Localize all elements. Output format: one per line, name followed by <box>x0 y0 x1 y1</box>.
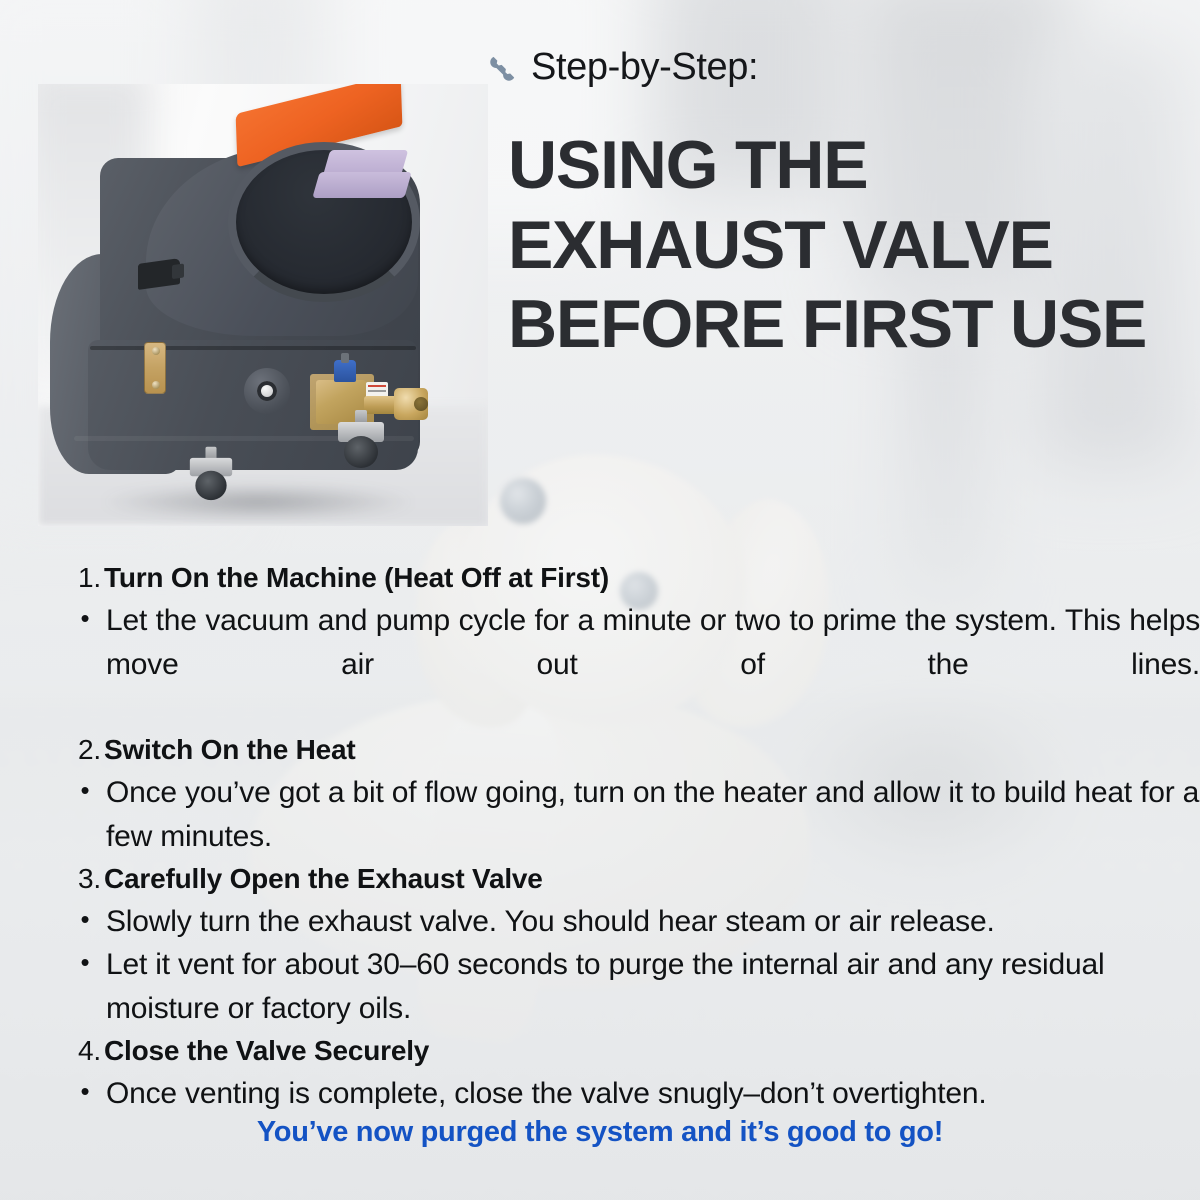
closing-statement: You’ve now purged the system and it’s go… <box>0 1116 1200 1149</box>
step-number: 3. <box>64 859 104 900</box>
page-title: USING THE EXHAUST VALVE BEFORE FIRST USE <box>508 126 1188 365</box>
step-number: 2. <box>64 730 104 771</box>
bullet-marker-icon: • <box>64 900 106 940</box>
wrench-icon <box>487 50 521 84</box>
step-number: 1. <box>64 558 104 599</box>
step-title: Close the Valve Securely <box>104 1031 429 1072</box>
bullet-text: Let it vent for about 30–60 seconds to p… <box>106 943 1200 1031</box>
steps-list: 1.Turn On the Machine (Heat Off at First… <box>64 558 1200 1116</box>
poster-content: Step-by-Step: USING THE EXHAUST VALVE BE… <box>0 0 1200 1200</box>
bullet-text: Once venting is complete, close the valv… <box>106 1072 1200 1116</box>
step-heading: 2.Switch On the Heat <box>64 730 1200 771</box>
step-number: 4. <box>64 1031 104 1072</box>
step-bullet: •Let the vacuum and pump cycle for a min… <box>64 599 1200 730</box>
step-title: Switch On the Heat <box>104 730 356 771</box>
step-heading: 1.Turn On the Machine (Heat Off at First… <box>64 558 1200 599</box>
eyebrow: Step-by-Step: <box>487 48 758 86</box>
bullet-text: Slowly turn the exhaust valve. You shoul… <box>106 900 1200 944</box>
bullet-marker-icon: • <box>64 771 106 811</box>
step-bullet: •Let it vent for about 30–60 seconds to … <box>64 943 1200 1031</box>
step-heading: 3.Carefully Open the Exhaust Valve <box>64 859 1200 900</box>
bullet-text: Once you’ve got a bit of flow going, tur… <box>106 771 1200 859</box>
step-title: Carefully Open the Exhaust Valve <box>104 859 543 900</box>
bullet-text: Let the vacuum and pump cycle for a minu… <box>106 599 1200 730</box>
step-bullet: •Slowly turn the exhaust valve. You shou… <box>64 900 1200 944</box>
step-bullet: •Once you’ve got a bit of flow going, tu… <box>64 771 1200 859</box>
step-bullet: •Once venting is complete, close the val… <box>64 1072 1200 1116</box>
eyebrow-label: Step-by-Step: <box>531 48 758 86</box>
bullet-marker-icon: • <box>64 599 106 639</box>
step-title: Turn On the Machine (Heat Off at First) <box>104 558 609 599</box>
bullet-marker-icon: • <box>64 1072 106 1112</box>
bullet-marker-icon: • <box>64 943 106 983</box>
step-heading: 4.Close the Valve Securely <box>64 1031 1200 1072</box>
